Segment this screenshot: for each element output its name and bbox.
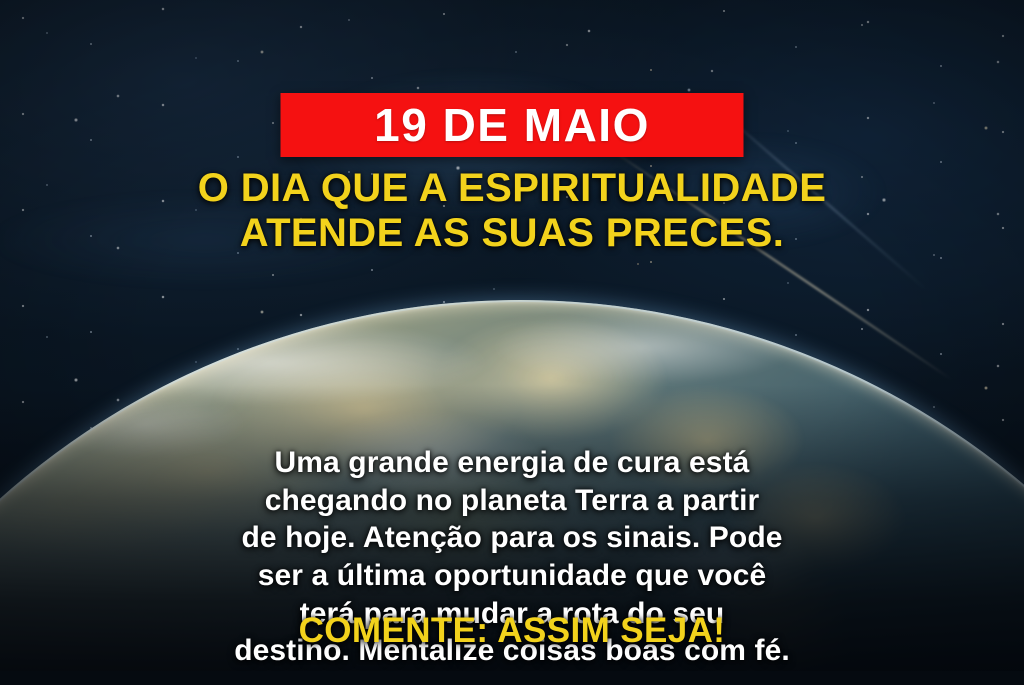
- poster-canvas: 19 DE MAIO O DIA QUE A ESPIRITUALIDADE A…: [0, 0, 1024, 685]
- headline-line-2: ATENDE AS SUAS PRECES.: [36, 211, 988, 256]
- body-line-2: chegando no planeta Terra a partir: [42, 482, 982, 520]
- body-line-1: Uma grande energia de cura está: [42, 444, 982, 482]
- headline: O DIA QUE A ESPIRITUALIDADE ATENDE AS SU…: [0, 166, 1024, 256]
- call-to-action-text: COMENTE: ASSIM SEJA!: [0, 612, 1024, 651]
- headline-line-1: O DIA QUE A ESPIRITUALIDADE: [36, 166, 988, 211]
- body-line-4: ser a última oportunidade que você: [42, 557, 982, 595]
- poster-content: 19 DE MAIO O DIA QUE A ESPIRITUALIDADE A…: [0, 0, 1024, 685]
- date-banner: 19 DE MAIO: [281, 93, 744, 157]
- body-line-3: de hoje. Atenção para os sinais. Pode: [42, 519, 982, 557]
- date-banner-label: 19 DE MAIO: [374, 102, 650, 148]
